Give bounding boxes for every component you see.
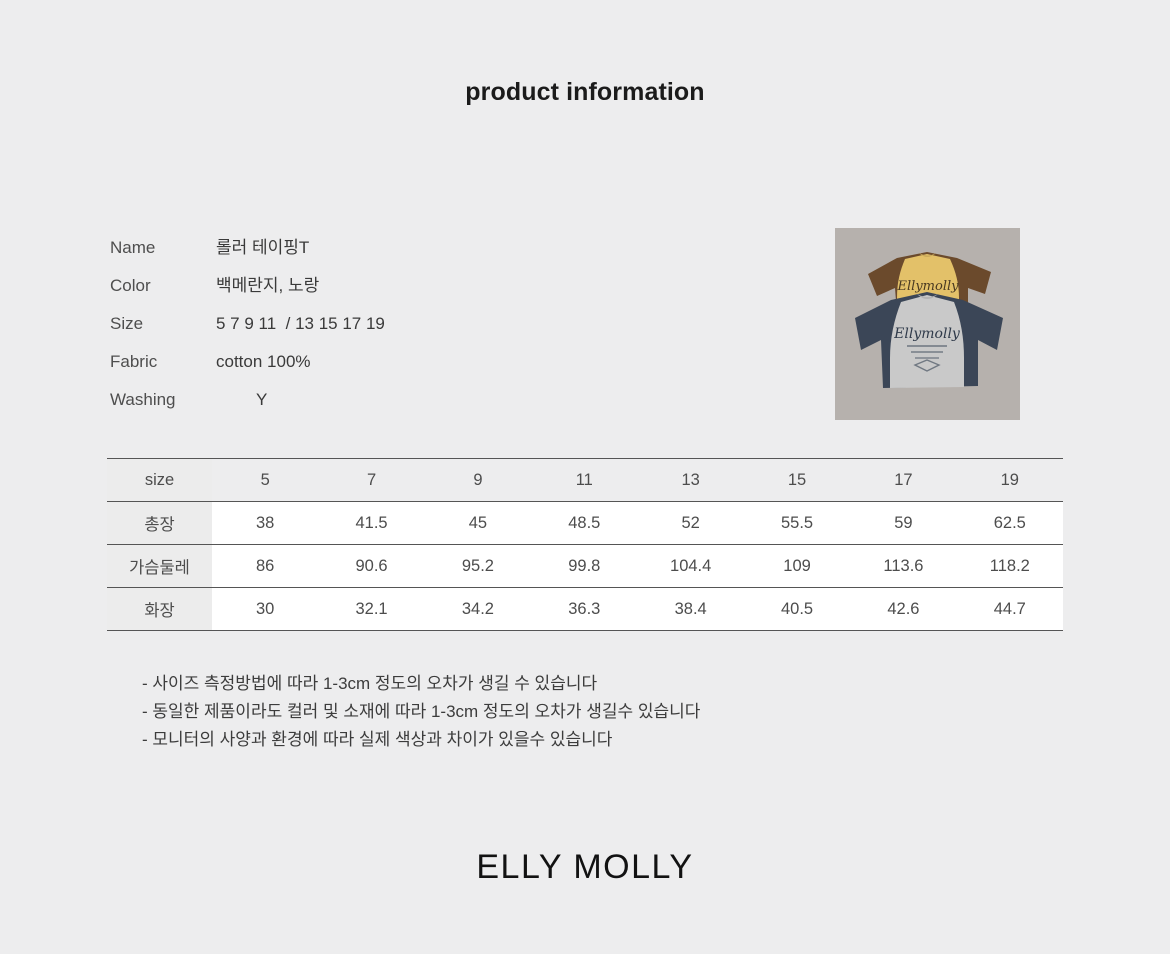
page-title: product information — [0, 78, 1170, 107]
table-cell: 86 — [212, 545, 318, 588]
table-cell: 59 — [850, 502, 956, 545]
table-cell: 44.7 — [957, 588, 1063, 631]
table-cell: 90.6 — [318, 545, 424, 588]
column-header: 17 — [850, 459, 956, 502]
table-cell: 45 — [425, 502, 531, 545]
table-cell: 40.5 — [744, 588, 850, 631]
spec-row-name: Name 롤러 테이핑T — [110, 236, 730, 274]
note-line: - 모니터의 사양과 환경에 따라 실제 색상과 차이가 있을수 있습니다 — [142, 726, 1042, 754]
column-header: 15 — [744, 459, 850, 502]
note-line: - 사이즈 측정방법에 따라 1-3cm 정도의 오차가 생길 수 있습니다 — [142, 670, 1042, 698]
spec-value: Y — [216, 388, 267, 412]
product-information-page: product information Name 롤러 테이핑T Color 백… — [0, 0, 1170, 954]
table-header-row: size 5 7 9 11 13 15 17 19 — [107, 459, 1063, 502]
spec-label: Name — [110, 236, 216, 260]
svg-text:Ellymolly: Ellymolly — [893, 326, 961, 342]
table-cell: 32.1 — [318, 588, 424, 631]
column-header: 7 — [318, 459, 424, 502]
table-cell: 62.5 — [957, 502, 1063, 545]
product-photo: Ellymolly Ellymolly — [835, 228, 1020, 420]
table-cell: 113.6 — [850, 545, 956, 588]
column-header: 9 — [425, 459, 531, 502]
spec-value: cotton 100% — [216, 350, 311, 374]
spec-label: Washing — [110, 388, 216, 412]
spec-row-color: Color 백메란지, 노랑 — [110, 274, 730, 312]
table-cell: 104.4 — [638, 545, 744, 588]
table-row: 가슴둘레 86 90.6 95.2 99.8 104.4 109 113.6 1… — [107, 545, 1063, 588]
notes-list: - 사이즈 측정방법에 따라 1-3cm 정도의 오차가 생길 수 있습니다 -… — [142, 670, 1042, 754]
table-cell: 30 — [212, 588, 318, 631]
column-header: 5 — [212, 459, 318, 502]
spec-value: 5 7 9 11 / 13 15 17 19 — [216, 312, 385, 336]
table-corner-label: size — [107, 459, 212, 502]
column-header: 13 — [638, 459, 744, 502]
brand-logo-text: ELLY MOLLY — [0, 848, 1170, 887]
spec-list: Name 롤러 테이핑T Color 백메란지, 노랑 Size 5 7 9 1… — [110, 236, 730, 426]
row-label: 총장 — [107, 502, 212, 545]
spec-label: Color — [110, 274, 216, 298]
table-cell: 99.8 — [531, 545, 637, 588]
spec-row-washing: Washing Y — [110, 388, 730, 426]
table-cell: 118.2 — [957, 545, 1063, 588]
table-cell: 48.5 — [531, 502, 637, 545]
table-cell: 55.5 — [744, 502, 850, 545]
row-label: 가슴둘레 — [107, 545, 212, 588]
table-row: 화장 30 32.1 34.2 36.3 38.4 40.5 42.6 44.7 — [107, 588, 1063, 631]
table-cell: 38.4 — [638, 588, 744, 631]
table-cell: 36.3 — [531, 588, 637, 631]
spec-value: 백메란지, 노랑 — [216, 274, 319, 298]
table-cell: 41.5 — [318, 502, 424, 545]
table-cell: 109 — [744, 545, 850, 588]
table-row: 총장 38 41.5 45 48.5 52 55.5 59 62.5 — [107, 502, 1063, 545]
column-header: 11 — [531, 459, 637, 502]
table-cell: 52 — [638, 502, 744, 545]
size-table: size 5 7 9 11 13 15 17 19 총장 38 41.5 45 … — [107, 458, 1063, 631]
note-line: - 동일한 제품이라도 컬러 및 소재에 따라 1-3cm 정도의 오차가 생길… — [142, 698, 1042, 726]
table-cell: 38 — [212, 502, 318, 545]
column-header: 19 — [957, 459, 1063, 502]
table-cell: 34.2 — [425, 588, 531, 631]
spec-value: 롤러 테이핑T — [216, 236, 309, 260]
row-label: 화장 — [107, 588, 212, 631]
table-cell: 42.6 — [850, 588, 956, 631]
table-cell: 95.2 — [425, 545, 531, 588]
spec-row-fabric: Fabric cotton 100% — [110, 350, 730, 388]
spec-label: Fabric — [110, 350, 216, 374]
svg-text:Ellymolly: Ellymolly — [897, 279, 960, 294]
spec-row-size: Size 5 7 9 11 / 13 15 17 19 — [110, 312, 730, 350]
spec-label: Size — [110, 312, 216, 336]
